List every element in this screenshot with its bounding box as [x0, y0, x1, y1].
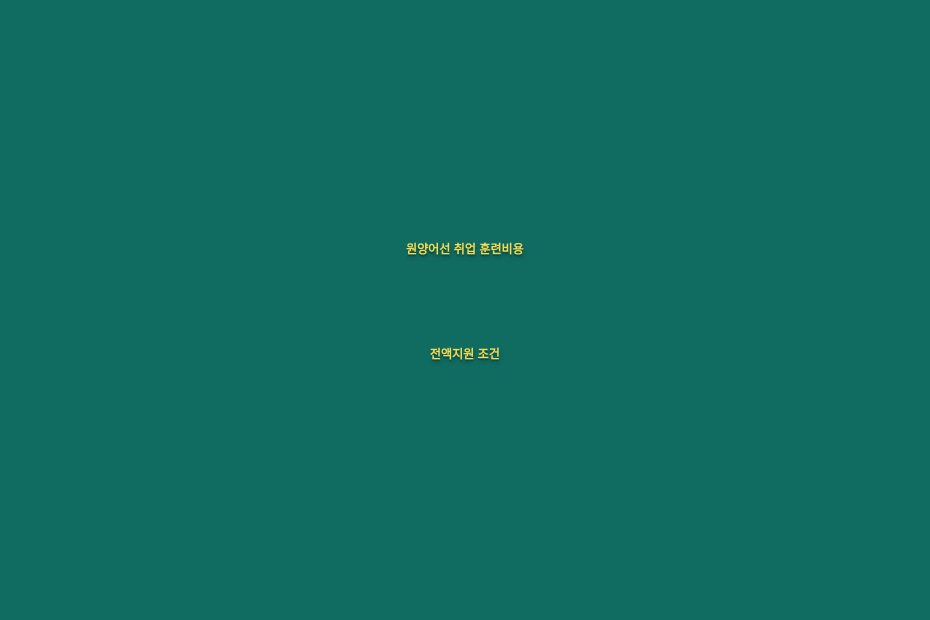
title-card: 원양어선 취업 훈련비용 전액지원 조건	[0, 0, 930, 620]
headline-line-1: 원양어선 취업 훈련비용	[24, 197, 906, 302]
headline-block: 원양어선 취업 훈련비용 전액지원 조건	[0, 197, 930, 407]
headline-line-2: 전액지원 조건	[24, 302, 906, 407]
